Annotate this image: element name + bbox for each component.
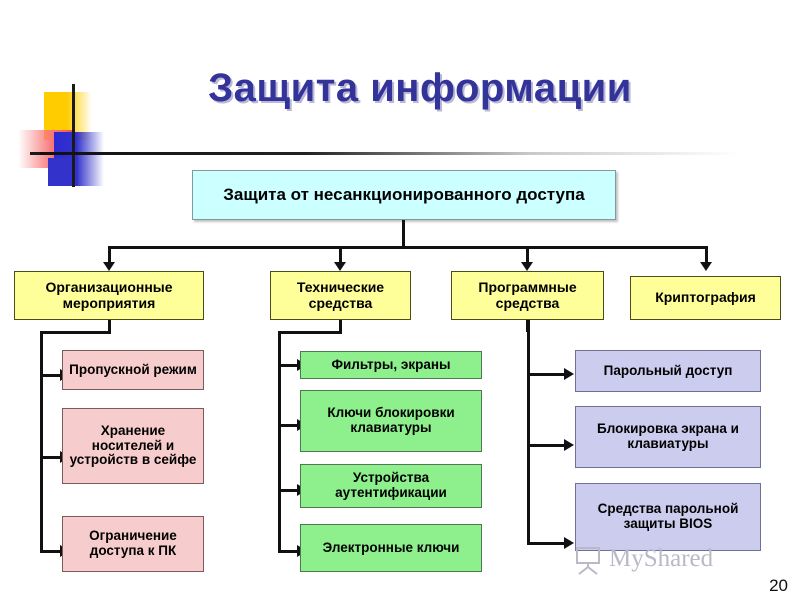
diagram-leaf-screen-keyboard-lock: Блокировка экрана и клавиатуры xyxy=(575,406,761,468)
arrow-level2-2 xyxy=(334,262,346,271)
connector-technical-elbow xyxy=(278,331,342,334)
diagram-leaf-password-access: Парольный доступ xyxy=(575,350,761,392)
diagram-node-root: Защита от несанкционированного доступа xyxy=(192,170,616,220)
diagram-leaf-electronic-keys: Электронные ключи xyxy=(300,524,482,572)
diagram-node-cryptography: Криптография xyxy=(630,276,781,320)
connector-organizational-branch-1 xyxy=(40,374,62,377)
diagram-leaf-media-storage-safe: Хранение носителей и устройств в сейфе xyxy=(62,408,204,484)
diagram-node-organizational: Организационные мероприятия xyxy=(14,271,204,320)
connector-software-branch-1 xyxy=(527,373,567,376)
diagram-node-technical: Технические средства xyxy=(270,271,411,320)
diagram-node-software: Программные средства xyxy=(451,271,604,320)
connector-root-stem xyxy=(402,220,405,248)
diagram-leaf-filters-screens: Фильтры, экраны xyxy=(300,351,482,379)
connector-level2-bus xyxy=(108,246,708,249)
arrow-level2-1 xyxy=(103,262,115,271)
page-number: 20 xyxy=(769,576,788,596)
connector-software-branch-2 xyxy=(527,444,567,447)
diagram-leaf-bios-password-protection: Средства парольной защиты BIOS xyxy=(575,483,761,551)
arrow-software-1 xyxy=(564,368,574,380)
logo-vertical-line xyxy=(72,84,75,187)
diagram-leaf-pc-access-restriction: Ограничение доступа к ПК xyxy=(62,516,204,572)
arrow-software-3 xyxy=(564,537,574,549)
diagram-leaf-authentication-devices: Устройства аутентификации xyxy=(300,464,482,508)
arrow-level2-3 xyxy=(521,262,533,271)
connector-organizational-spine xyxy=(40,331,43,553)
easel-icon xyxy=(573,547,603,575)
connector-organizational-branch-2 xyxy=(40,456,62,459)
arrow-software-2 xyxy=(564,439,574,451)
title-divider-rule xyxy=(40,152,740,155)
diagram-leaf-keyboard-lock-keys: Ключи блокировки клавиатуры xyxy=(300,390,482,452)
slide-logo-decoration xyxy=(18,82,128,187)
connector-software-branch-3 xyxy=(527,542,567,545)
connector-organizational-elbow xyxy=(40,331,111,334)
connector-organizational-branch-3 xyxy=(40,550,62,553)
connector-software-spine xyxy=(527,320,530,545)
diagram-leaf-access-control-regime: Пропускной режим xyxy=(62,350,204,390)
page-title: Защита информации xyxy=(120,66,720,111)
arrow-level2-4 xyxy=(700,262,712,271)
